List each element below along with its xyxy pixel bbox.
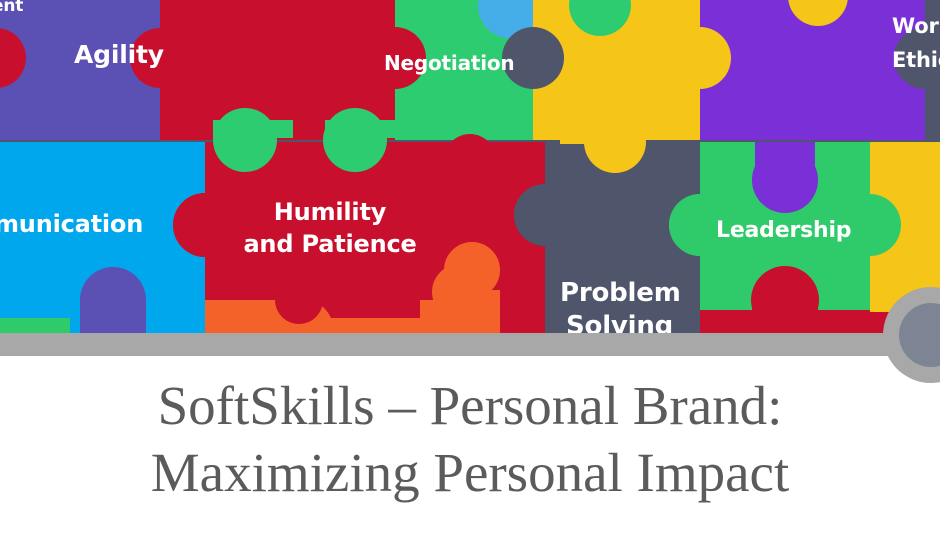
puzzle-tile-work-ethic <box>925 0 940 140</box>
puzzle-graphic <box>0 0 940 334</box>
scroll-handle-inner-dot <box>899 303 940 367</box>
page-root: ent Agility Negotiation Work Ethic munic… <box>0 0 940 547</box>
soft-skills-puzzle-banner: ent Agility Negotiation Work Ethic munic… <box>0 0 940 334</box>
gray-divider-bar <box>0 333 940 356</box>
knob-red-a <box>444 134 496 186</box>
page-title-line-2: Maximizing Personal Impact <box>0 439 940 506</box>
knob-slate-a <box>502 27 564 89</box>
page-title-line-1: SoftSkills – Personal Brand: <box>0 372 940 439</box>
orange-strip <box>440 290 500 334</box>
page-title: SoftSkills – Personal Brand: Maximizing … <box>0 372 940 506</box>
knob-orange-b <box>444 242 500 298</box>
knob-yellow-b <box>669 27 731 89</box>
